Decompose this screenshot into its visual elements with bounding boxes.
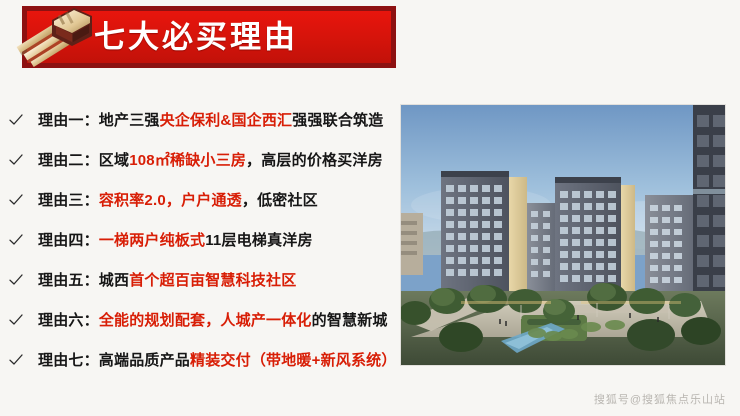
reason-segment: ，高层的价格买洋房 [246,152,383,169]
reason-text: 理由七：高端品质产品精装交付（带地暖+新风系统） [38,353,397,368]
check-icon [8,112,24,128]
check-icon [8,352,24,368]
reason-segment: 理由二：区域 [38,152,129,169]
reason-list: 理由一：地产三强央企保利&国企西汇强强联合筑造 理由二：区域108㎡稀缺小三房，… [0,100,400,380]
reason-segment-highlight: 108㎡稀缺小三房 [129,152,246,169]
residential-complex-photo [401,105,725,365]
reason-segment: 11层电梯真洋房 [205,232,312,249]
reason-text: 理由五：城西首个超百亩智慧科技社区 [38,273,296,288]
reason-segment: 理由七：高端品质产品 [38,352,190,369]
check-icon [8,272,24,288]
reason-segment: 理由四： [38,232,99,249]
list-item: 理由四：一梯两户纯板式11层电梯真洋房 [0,220,400,260]
reason-segment: 理由一：地产三强 [38,112,160,129]
reason-text: 理由四：一梯两户纯板式11层电梯真洋房 [38,233,313,248]
check-icon [8,232,24,248]
page-title: 七大必买理由 [94,22,298,53]
reason-text: 理由三：容积率2.0，户户通透，低密社区 [38,193,318,208]
reason-segment-highlight: 央企保利&国企西汇 [160,112,293,129]
list-item: 理由七：高端品质产品精装交付（带地暖+新风系统） [0,340,400,380]
list-item: 理由一：地产三强央企保利&国企西汇强强联合筑造 [0,100,400,140]
watermark: 搜狐号@搜狐焦点乐山站 [594,395,726,406]
list-item: 理由二：区域108㎡稀缺小三房，高层的价格买洋房 [0,140,400,180]
reason-text: 理由六：全能的规划配套，人城产一体化的智慧新城 [38,313,388,328]
reason-segment-highlight: 一梯两户纯板式 [99,232,205,249]
list-item: 理由三：容积率2.0，户户通透，低密社区 [0,180,400,220]
title-banner: 七大必买理由 [22,6,396,68]
reason-segment: ，低密社区 [242,192,318,209]
reason-segment: 理由六： [38,312,99,329]
reason-segment: 的智慧新城 [312,312,388,329]
reason-segment-highlight: 全能的规划配套，人城产一体化 [99,312,312,329]
gold-ribbon-icon [8,2,100,76]
check-icon [8,312,24,328]
reason-segment: 强强联合筑造 [292,112,383,129]
marketing-slide: 七大必买理由 [0,0,740,416]
reason-segment-highlight: 首个超百亩智慧科技社区 [129,272,296,289]
reason-text: 理由一：地产三强央企保利&国企西汇强强联合筑造 [38,113,383,128]
reason-segment: 理由五：城西 [38,272,129,289]
reason-segment-highlight: 精装交付（带地暖+新风系统） [190,352,397,369]
list-item: 理由六：全能的规划配套，人城产一体化的智慧新城 [0,300,400,340]
reason-text: 理由二：区域108㎡稀缺小三房，高层的价格买洋房 [38,153,383,168]
reason-segment-highlight: 容积率2.0，户户通透 [99,192,242,209]
check-icon [8,192,24,208]
check-icon [8,152,24,168]
list-item: 理由五：城西首个超百亩智慧科技社区 [0,260,400,300]
reason-segment: 理由三： [38,192,99,209]
